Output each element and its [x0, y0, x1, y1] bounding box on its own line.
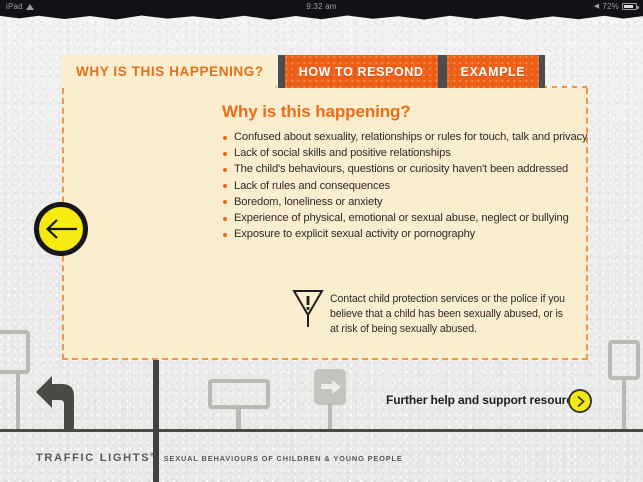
panel-title: Why is this happening? [222, 102, 572, 122]
middle-sign-board [208, 379, 270, 409]
tab-label: WHY IS THIS HAPPENING? [76, 64, 264, 79]
status-time: 9:32 am [0, 0, 643, 13]
warning-notice: Contact child protection services or the… [292, 288, 572, 337]
list-item: Experience of physical, emotional or sex… [222, 210, 572, 226]
list-item: Lack of social skills and positive relat… [222, 145, 572, 161]
left-sign-post [16, 372, 20, 430]
ipad-status-bar: iPad 9:32 am ◀ 72% [0, 0, 643, 13]
footer-brand: TRAFFIC LIGHTS® [36, 452, 155, 464]
tab-example[interactable]: EXAMPLE [447, 55, 540, 88]
registered-mark: ® [150, 452, 154, 458]
tab-bar: WHY IS THIS HAPPENING? HOW TO RESPOND EX… [62, 55, 539, 88]
footer: TRAFFIC LIGHTS® SEXUAL BEHAVIOURS OF CHI… [36, 452, 403, 464]
tab-why-is-this-happening[interactable]: WHY IS THIS HAPPENING? [62, 55, 276, 88]
battery-icon [622, 3, 637, 10]
battery-percent: 72% [602, 0, 619, 13]
arrow-sign-post [328, 403, 332, 430]
arrow-left-icon [44, 218, 78, 240]
ground-line [0, 429, 643, 432]
list-item: Boredom, loneliness or anxiety [222, 194, 572, 210]
forward-button[interactable] [568, 389, 592, 413]
warning-notice-text: Contact child protection services or the… [330, 288, 572, 337]
warning-triangle-icon [292, 288, 324, 328]
footer-brand-text: TRAFFIC LIGHTS [36, 452, 150, 464]
torn-paper-edge [0, 13, 643, 22]
right-sign-post [622, 378, 626, 430]
app-root: iPad 9:32 am ◀ 72% [0, 0, 643, 482]
content-panel: Why is this happening? Confused about se… [62, 88, 588, 360]
further-help-link[interactable]: Further help and support resources [386, 393, 586, 407]
tab-label: HOW TO RESPOND [299, 65, 424, 79]
reason-list: Confused about sexuality, relationships … [222, 129, 572, 242]
right-arrow-sign-icon [314, 369, 346, 405]
right-sign-board [608, 340, 640, 380]
list-item: The child's behaviours, questions or cur… [222, 161, 572, 177]
tab-label: EXAMPLE [461, 65, 526, 79]
list-item: Exposure to explicit sexual activity or … [222, 226, 572, 242]
footer-subtitle: SEXUAL BEHAVIOURS OF CHILDREN & YOUNG PE… [164, 454, 403, 463]
status-right: ◀ 72% [594, 0, 637, 13]
list-item: Confused about sexuality, relationships … [222, 129, 572, 145]
panel-content: Why is this happening? Confused about se… [222, 102, 572, 242]
chevron-left-icon: ◀ [594, 0, 600, 13]
middle-sign-post [236, 406, 241, 430]
chevron-right-icon [575, 395, 586, 408]
tab-how-to-respond[interactable]: HOW TO RESPOND [285, 55, 438, 88]
left-sign-board [0, 330, 30, 374]
back-button[interactable] [34, 202, 88, 256]
list-item: Lack of rules and consequences [222, 178, 572, 194]
u-turn-arrow-icon [34, 374, 114, 430]
